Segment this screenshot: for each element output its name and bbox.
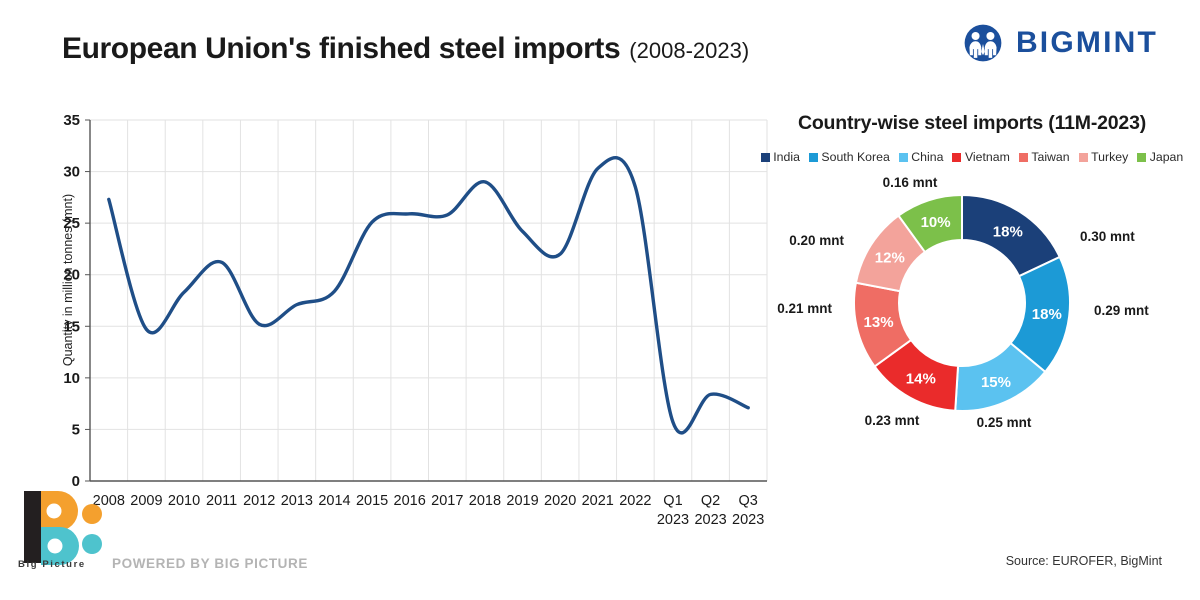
legend-label: Japan bbox=[1150, 150, 1184, 164]
bigmint-brand: BIGMINT bbox=[962, 22, 1158, 64]
legend-swatch-icon bbox=[952, 153, 961, 162]
legend-item-south-korea[interactable]: South Korea bbox=[809, 150, 890, 164]
donut-slice-value-label: 0.21 mnt bbox=[777, 301, 832, 316]
y-tick-label: 15 bbox=[63, 318, 80, 335]
infographic-page: European Union's finished steel imports … bbox=[0, 0, 1200, 600]
x-tick-label: 2019 bbox=[506, 493, 538, 509]
donut-slice-value-label: 0.20 mnt bbox=[789, 233, 844, 248]
donut-chart-panel: Country-wise steel imports (11M-2023) In… bbox=[762, 112, 1182, 472]
legend-label: India bbox=[773, 150, 800, 164]
source-label: Source: EUROFER, BigMint bbox=[1006, 554, 1162, 568]
donut-slice-percent-label: 15% bbox=[981, 374, 1011, 391]
x-tick-label: 2017 bbox=[431, 493, 463, 509]
donut-slice-value-label: 0.30 mnt bbox=[1080, 229, 1135, 244]
x-tick-label: Q2 bbox=[701, 493, 720, 509]
donut-chart-svg: 18%0.30 mnt18%0.29 mnt15%0.25 mnt14%0.23… bbox=[762, 170, 1182, 448]
legend-item-china[interactable]: China bbox=[899, 150, 944, 164]
y-tick-label: 20 bbox=[63, 267, 80, 284]
y-tick-label: 5 bbox=[72, 421, 80, 438]
donut-slice-percent-label: 13% bbox=[864, 314, 894, 331]
y-tick-label: 10 bbox=[63, 370, 80, 387]
y-tick-label: 30 bbox=[63, 164, 80, 181]
donut-slice-value-label: 0.25 mnt bbox=[977, 415, 1032, 430]
donut-slice-percent-label: 12% bbox=[875, 250, 905, 267]
y-tick-label: 35 bbox=[63, 112, 80, 129]
legend-item-japan[interactable]: Japan bbox=[1137, 150, 1183, 164]
legend-label: Vietnam bbox=[965, 150, 1010, 164]
donut-chart-legend: IndiaSouth KoreaChinaVietnamTaiwanTurkey… bbox=[762, 150, 1182, 164]
legend-item-vietnam[interactable]: Vietnam bbox=[952, 150, 1009, 164]
x-tick-label: 2022 bbox=[619, 493, 651, 509]
x-tick-label: 2015 bbox=[356, 493, 388, 509]
y-tick-label: 25 bbox=[63, 215, 80, 232]
legend-swatch-icon bbox=[899, 153, 908, 162]
legend-label: China bbox=[911, 150, 943, 164]
donut-slice-value-label: 0.16 mnt bbox=[883, 175, 938, 190]
donut-slice-value-label: 0.29 mnt bbox=[1094, 303, 1149, 318]
x-tick-label: 2018 bbox=[469, 493, 501, 509]
powered-by-label: POWERED BY BIG PICTURE bbox=[112, 556, 308, 571]
x-tick-label: 2014 bbox=[318, 493, 350, 509]
line-chart-svg: 0510152025303520082009201020112012201320… bbox=[40, 105, 780, 535]
donut-slice-percent-label: 14% bbox=[906, 370, 936, 387]
page-title: European Union's finished steel imports … bbox=[62, 32, 749, 66]
legend-item-taiwan[interactable]: Taiwan bbox=[1019, 150, 1070, 164]
x-tick-label: 2023 bbox=[694, 512, 726, 528]
legend-swatch-icon bbox=[1079, 153, 1088, 162]
page-title-main: European Union's finished steel imports bbox=[62, 32, 620, 66]
x-tick-label: 2023 bbox=[657, 512, 689, 528]
legend-item-turkey[interactable]: Turkey bbox=[1079, 150, 1129, 164]
legend-swatch-icon bbox=[761, 153, 770, 162]
donut-slice-percent-label: 18% bbox=[1032, 306, 1062, 323]
bigmint-brand-text: BIGMINT bbox=[1016, 26, 1158, 60]
x-tick-label: 2023 bbox=[732, 512, 764, 528]
donut-chart-area: 18%0.30 mnt18%0.29 mnt15%0.25 mnt14%0.23… bbox=[762, 170, 1182, 448]
legend-swatch-icon bbox=[1019, 153, 1028, 162]
x-tick-label: 2021 bbox=[582, 493, 614, 509]
page-title-period: (2008-2023) bbox=[629, 38, 749, 64]
donut-slice-value-label: 0.23 mnt bbox=[865, 413, 920, 428]
donut-slice-percent-label: 10% bbox=[921, 214, 951, 231]
donut-chart-title: Country-wise steel imports (11M-2023) bbox=[762, 112, 1182, 135]
legend-label: South Korea bbox=[821, 150, 889, 164]
legend-label: Taiwan bbox=[1031, 150, 1069, 164]
legend-item-india[interactable]: India bbox=[761, 150, 800, 164]
big-picture-logo-word: Big Picture bbox=[18, 559, 86, 570]
legend-label: Turkey bbox=[1091, 150, 1128, 164]
x-tick-label: Q3 bbox=[739, 493, 758, 509]
legend-swatch-icon bbox=[809, 153, 818, 162]
legend-swatch-icon bbox=[1137, 153, 1146, 162]
donut-slice-percent-label: 18% bbox=[993, 223, 1023, 240]
x-tick-label: Q1 bbox=[663, 493, 682, 509]
bigmint-logo-icon bbox=[962, 22, 1004, 64]
x-tick-label: 2016 bbox=[394, 493, 426, 509]
x-tick-label: 2020 bbox=[544, 493, 576, 509]
line-chart: Quantity in million tonnes (mnt) 0510152… bbox=[40, 105, 780, 535]
